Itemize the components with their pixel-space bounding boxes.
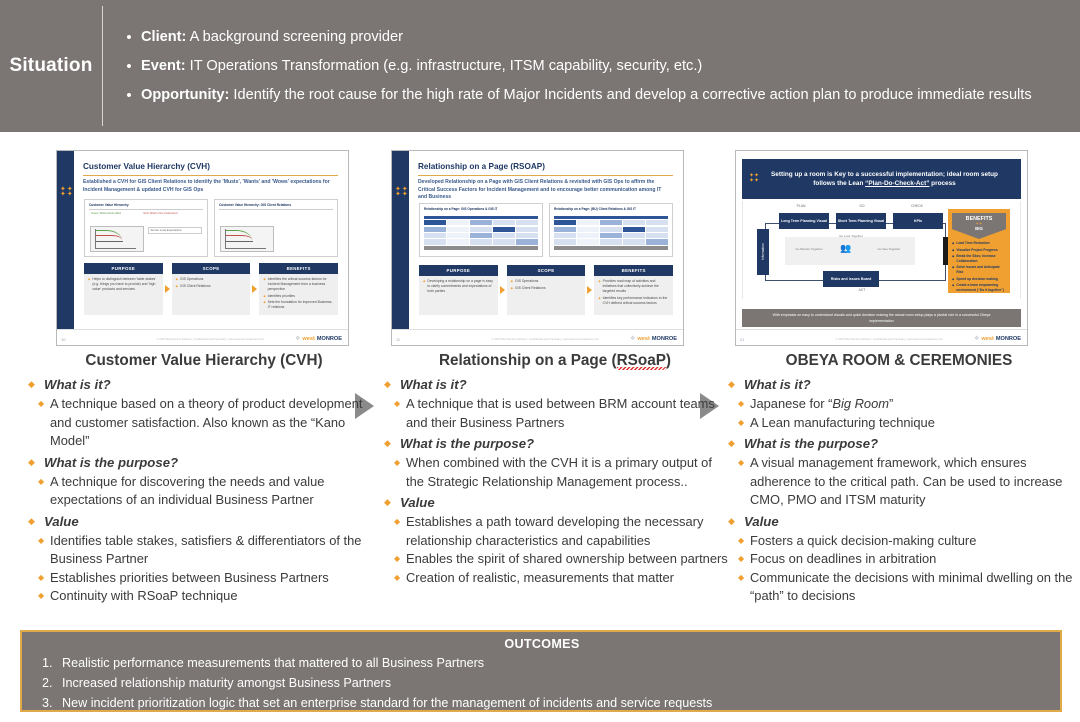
west-monroe-logo: ❖ west MONROE bbox=[630, 335, 677, 342]
mini-slide-title: Customer Value Hierarchy (CVH) bbox=[83, 162, 338, 171]
situation-bullet-list: • Client: A background screening provide… bbox=[103, 27, 1080, 106]
outcome-number: 1. bbox=[34, 654, 62, 673]
situation-item-lead: Opportunity: bbox=[141, 87, 229, 103]
mini-green-annotation: Green: What Clients Want bbox=[91, 212, 137, 215]
list-item-post: ” bbox=[889, 396, 893, 411]
mini-box-header: PURPOSE bbox=[84, 263, 163, 274]
obeya-footer-banner: With emphasis on easy to understand visu… bbox=[742, 309, 1021, 327]
list-item-text: Creation of realistic, measurements that… bbox=[406, 569, 674, 588]
mini-gray-annotation: Service Level Expectations bbox=[148, 227, 202, 234]
obeya-box-long-term: Long Term Planning Visual bbox=[779, 213, 829, 229]
mini-legal-text: © 2020 West Monroe Partners • Confidenti… bbox=[492, 338, 599, 342]
obeya-benefits-badge: BIG bbox=[952, 226, 1006, 231]
mini-box-purpose: PURPOSE ◆Helps to distinguish between 't… bbox=[84, 263, 163, 315]
mini-shot-caption: Relationship on a Page: (BU) Client Rela… bbox=[554, 207, 668, 211]
situation-label: Situation bbox=[0, 55, 102, 77]
situation-item-rest: Identify the root cause for the high rat… bbox=[229, 87, 1031, 103]
obeya-diagram: PLAN DO CHECK ACT Information Long Term … bbox=[742, 201, 1021, 299]
obeya-benefits-chevron: BENEFITS ✦✦ BIG bbox=[952, 213, 1006, 239]
outcome-number: 3. bbox=[34, 694, 62, 713]
list-item-pre: Japanese for “ bbox=[750, 396, 832, 411]
list-item: ◆ Establishes a path toward developing t… bbox=[380, 513, 730, 550]
mini-box-item: GIS Operations bbox=[180, 277, 203, 282]
column-obeya: OBEYA ROOM & CEREMONIES ◆ What is it? ◆ … bbox=[724, 352, 1074, 608]
diamond-bullet-icon: ◆ bbox=[24, 375, 44, 394]
list-item-text: A technique based on a theory of product… bbox=[50, 395, 384, 451]
mini-screenshot-left: Relationship on a Page: GIS Operations &… bbox=[419, 203, 543, 257]
diamond-bullet-icon: ◆ bbox=[24, 587, 50, 606]
obeya-benefit-item: Lead Time Reduction bbox=[956, 241, 989, 246]
slide-rail bbox=[392, 151, 409, 345]
group-points: ◆ A technique that is used between BRM a… bbox=[380, 395, 730, 432]
mini-title-rule bbox=[83, 175, 338, 176]
group-heading: What is it? bbox=[400, 375, 467, 394]
situation-item-event: • Event: IT Operations Transformation (e… bbox=[117, 56, 1052, 77]
obeya-box-short-term: Short Term Planning Visual bbox=[836, 213, 886, 229]
list-item-text: Japanese for “Big Room” bbox=[750, 395, 893, 414]
obeya-box-information: Information bbox=[757, 229, 769, 275]
logo-monroe-text: MONROE bbox=[652, 336, 677, 342]
mini-box-item: Helps to distinguish between 'table stak… bbox=[92, 277, 158, 292]
list-item-text: Enables the spirit of shared ownership b… bbox=[406, 550, 728, 569]
group-points: ◆ A technique based on a theory of produ… bbox=[24, 395, 384, 451]
mini-box-item: GIS Operations bbox=[515, 279, 538, 284]
mini-box-benefits: BENEFITS ◆Identifies the critical succes… bbox=[259, 263, 338, 315]
list-item: ◆ Enables the spirit of shared ownership… bbox=[380, 550, 730, 569]
column-title-pre: Relationship on a Page ( bbox=[439, 352, 617, 369]
mini-box-header: SCOPE bbox=[172, 263, 251, 274]
brand-dots-icon: ✦✦✦✦ bbox=[742, 174, 766, 184]
list-item-text: Establishes a path toward developing the… bbox=[406, 513, 730, 550]
diamond-bullet-icon: ◆ bbox=[24, 532, 50, 551]
mini-page-number: 10 bbox=[61, 337, 65, 342]
mini-screenshot-right: Customer Value Hierarchy: GIS Client Rel… bbox=[214, 199, 338, 257]
mini-green-header: Green: What Clients Want bbox=[91, 212, 121, 215]
list-item-text: Continuity with RSoaP technique bbox=[50, 587, 238, 606]
pdca-label-check: CHECK bbox=[895, 204, 939, 208]
group-points: ◆ Identifies table stakes, satisfiers & … bbox=[24, 532, 384, 606]
diamond-bullet-icon: ◆ bbox=[380, 513, 406, 532]
group-heading-row: ◆ What is it? bbox=[24, 375, 384, 394]
mini-screenshot-right: Relationship on a Page: (BU) Client Rela… bbox=[549, 203, 673, 257]
obeya-title-line1: Setting up a room is Key to a successful… bbox=[771, 171, 998, 178]
situation-item-rest: IT Operations Transformation (e.g. infra… bbox=[186, 58, 703, 74]
mini-box-item: Developing a relationship on a page is e… bbox=[427, 279, 493, 294]
diamond-bullet-icon: ◆ bbox=[724, 454, 750, 473]
obeya-center-top-label: Go Look Together bbox=[831, 234, 871, 238]
mini-shot-rule bbox=[89, 209, 203, 210]
obeya-benefit-item: Solve Issues and Anticipate Risk bbox=[956, 265, 1006, 274]
diamond-bullet-icon: ◆ bbox=[263, 294, 265, 299]
group-heading: What is it? bbox=[744, 375, 811, 394]
list-item-text: A technique that is used between BRM acc… bbox=[406, 395, 730, 432]
diamond-bullet-icon: ◆ bbox=[724, 395, 750, 414]
mini-box-item: Sets the foundation for improved Busines… bbox=[268, 300, 334, 310]
diamond-bullet-icon: ◆ bbox=[380, 550, 406, 569]
pdca-label-plan: PLAN bbox=[779, 204, 823, 208]
diamond-bullet-icon: ◆ bbox=[24, 569, 50, 588]
group-heading-row: ◆ Value bbox=[724, 512, 1074, 531]
obeya-box-risks-issues: Risks and Issues Board bbox=[823, 271, 879, 287]
mini-rsoap-table bbox=[554, 216, 668, 252]
mini-box-item: Identifies priorities bbox=[268, 294, 295, 299]
west-monroe-logo: ❖ west MONROE bbox=[974, 335, 1021, 342]
thumbnail-obeya[interactable]: ✦✦✦✦ Setting up a room is Key to a succe… bbox=[735, 150, 1028, 346]
outcome-item: 2. Increased relationship maturity among… bbox=[34, 674, 1050, 693]
situation-item-text: Opportunity: Identify the root cause for… bbox=[141, 85, 1032, 106]
outcome-text: Realistic performance measurements that … bbox=[62, 654, 484, 673]
situation-item-opportunity: • Opportunity: Identify the root cause f… bbox=[117, 85, 1052, 106]
chevron-separator-icon bbox=[585, 265, 594, 315]
logo-west-text: west bbox=[637, 336, 649, 342]
group-heading-row: ◆ What is the purpose? bbox=[724, 434, 1074, 453]
bullet-icon: • bbox=[117, 56, 141, 77]
diamond-bullet-icon: ◆ bbox=[952, 283, 954, 292]
mini-kano-chart bbox=[220, 226, 274, 252]
mini-slide-title: Relationship on a Page (RSOAP) bbox=[418, 162, 673, 171]
list-item: ◆ A visual management framework, which e… bbox=[724, 454, 1074, 510]
mini-slide-subtitle: Developed Relationship on a Page with GI… bbox=[418, 179, 671, 202]
mini-box-header: BENEFITS bbox=[259, 263, 338, 274]
list-item: ◆ When combined with the CVH it is a pri… bbox=[380, 454, 730, 491]
diamond-bullet-icon: ◆ bbox=[380, 569, 406, 588]
group-points: ◆ When combined with the CVH it is a pri… bbox=[380, 454, 730, 491]
obeya-title-line2-underlined: “Plan-Do-Check-Act” bbox=[865, 180, 929, 187]
group-heading: Value bbox=[744, 512, 779, 531]
list-item-text: Focus on deadlines in arbitration bbox=[750, 550, 936, 569]
diamond-bullet-icon: ◆ bbox=[511, 279, 513, 284]
list-item: ◆ A Lean manufacturing technique bbox=[724, 414, 1074, 433]
mini-box-body: ◆GIS Operations ◆GIS Client Relations bbox=[507, 276, 586, 315]
diamond-bullet-icon: ◆ bbox=[724, 434, 744, 453]
diamond-bullet-icon: ◆ bbox=[724, 414, 750, 433]
west-monroe-logo: ❖ west MONROE bbox=[295, 335, 342, 342]
diamond-bullet-icon: ◆ bbox=[263, 277, 265, 292]
diamond-bullet-icon: ◆ bbox=[88, 277, 90, 292]
column-title-obeya: OBEYA ROOM & CEREMONIES bbox=[724, 352, 1074, 370]
mini-box-item: Identifies the critical success factors … bbox=[268, 277, 334, 292]
group-points: ◆ Establishes a path toward developing t… bbox=[380, 513, 730, 587]
situation-item-client: • Client: A background screening provide… bbox=[117, 27, 1052, 48]
outcome-number: 2. bbox=[34, 674, 62, 693]
group-points: ◆ Japanese for “Big Room” ◆ A Lean manuf… bbox=[724, 395, 1074, 432]
list-item-text: A visual management framework, which ens… bbox=[750, 454, 1074, 510]
diamond-bullet-icon: ◆ bbox=[952, 241, 954, 246]
mini-screenshot-left: Customer Value Hierarchy Green: What Cli… bbox=[84, 199, 208, 257]
list-item-text: A Lean manufacturing technique bbox=[750, 414, 935, 433]
slide-rail bbox=[57, 151, 74, 345]
group-heading: Value bbox=[44, 512, 79, 531]
obeya-title-banner: ✦✦✦✦ Setting up a room is Key to a succe… bbox=[742, 159, 1021, 199]
mini-box-benefits: BENEFITS ◆Provides road map of activitie… bbox=[594, 265, 673, 315]
logo-mark-icon: ❖ bbox=[295, 335, 300, 342]
mini-page-number: 21 bbox=[740, 337, 744, 342]
outcome-text: Increased relationship maturity amongst … bbox=[62, 674, 391, 693]
bullet-icon: • bbox=[117, 27, 141, 48]
mini-shot-rule bbox=[219, 209, 333, 210]
list-item: ◆ A technique based on a theory of produ… bbox=[24, 395, 384, 451]
diamond-bullet-icon: ◆ bbox=[423, 279, 425, 294]
diamond-bullet-icon: ◆ bbox=[598, 279, 600, 294]
mini-box-item: Identifies key performance indicators to… bbox=[603, 296, 669, 306]
diamond-bullet-icon: ◆ bbox=[263, 300, 265, 310]
mini-box-body: ◆Helps to distinguish between 'table sta… bbox=[84, 274, 163, 315]
mini-page-number: 11 bbox=[396, 337, 400, 342]
diamond-bullet-icon: ◆ bbox=[24, 395, 50, 414]
obeya-benefit-item: Create a team empowering environment (“D… bbox=[956, 283, 1006, 292]
mini-red-header: Red: What Is Not Understood bbox=[144, 212, 178, 215]
list-item: ◆ A technique that is used between BRM a… bbox=[380, 395, 730, 432]
column-cvh: Customer Value Hierarchy (CVH) ◆ What is… bbox=[24, 352, 384, 608]
obeya-center-right-label: Go See Together bbox=[871, 247, 907, 251]
mini-rsoap-table bbox=[424, 216, 538, 252]
column-title-misspelled-word: RSoaP bbox=[617, 352, 666, 369]
list-item: ◆ A technique for discovering the needs … bbox=[24, 473, 384, 510]
logo-west-text: west bbox=[981, 336, 993, 342]
group-heading-row: ◆ What is the purpose? bbox=[380, 434, 730, 453]
diamond-bullet-icon: ◆ bbox=[24, 473, 50, 492]
list-item-text: Establishes priorities between Business … bbox=[50, 569, 329, 588]
diamond-bullet-icon: ◆ bbox=[952, 277, 954, 282]
diamond-bullet-icon: ◆ bbox=[511, 286, 513, 291]
diamond-bullet-icon: ◆ bbox=[380, 375, 400, 394]
mini-legal-text: © 2020 West Monroe Partners • Confidenti… bbox=[157, 338, 264, 342]
chevron-separator-icon bbox=[163, 263, 172, 315]
column-title-post: ) bbox=[666, 352, 671, 369]
diamond-bullet-icon: ◆ bbox=[724, 375, 744, 394]
situation-band: Situation • Client: A background screeni… bbox=[0, 0, 1080, 132]
outcomes-panel: OUTCOMES 1. Realistic performance measur… bbox=[20, 630, 1062, 712]
mini-box-header: PURPOSE bbox=[419, 265, 498, 276]
pdca-label-act: ACT bbox=[840, 288, 884, 292]
list-item: ◆ Continuity with RSoaP technique bbox=[24, 587, 384, 606]
obeya-benefit-item: Speed up decision making bbox=[956, 277, 998, 282]
group-points: ◆ A visual management framework, which e… bbox=[724, 454, 1074, 510]
logo-mark-icon: ❖ bbox=[974, 335, 979, 342]
group-points: ◆ Fosters a quick decision-making cultur… bbox=[724, 532, 1074, 606]
mini-slide-subtitle: Established a CVH for GIS Client Relatio… bbox=[83, 179, 336, 194]
situation-item-lead: Client: bbox=[141, 29, 186, 45]
list-item-text: Fosters a quick decision-making culture bbox=[750, 532, 976, 551]
diamond-bullet-icon: ◆ bbox=[952, 265, 954, 274]
diamond-bullet-icon: ◆ bbox=[380, 493, 400, 512]
group-heading: Value bbox=[400, 493, 435, 512]
detail-columns: Customer Value Hierarchy (CVH) ◆ What is… bbox=[0, 352, 1080, 624]
diamond-bullet-icon: ◆ bbox=[724, 550, 750, 569]
group-heading-row: ◆ What is it? bbox=[724, 375, 1074, 394]
list-item: ◆ Establishes priorities between Busines… bbox=[24, 569, 384, 588]
diamond-bullet-icon: ◆ bbox=[724, 569, 750, 588]
list-item-text: A technique for discovering the needs an… bbox=[50, 473, 384, 510]
mini-box-header: SCOPE bbox=[507, 265, 586, 276]
obeya-benefits-panel: BENEFITS ✦✦ BIG ◆Lead Time Reduction ◆Vi… bbox=[948, 209, 1010, 293]
thumbnail-rsoap[interactable]: ✦✦✦✦ Relationship on a Page (RSOAP) Deve… bbox=[391, 150, 684, 346]
people-group-icon: 👥 bbox=[840, 243, 851, 254]
mini-shot-caption: Customer Value Hierarchy: GIS Client Rel… bbox=[219, 203, 333, 207]
list-item-text: Communicate the decisions with minimal d… bbox=[750, 569, 1074, 606]
list-item: ◆ Creation of realistic, measurements th… bbox=[380, 569, 730, 588]
obeya-title-line2-post: process bbox=[929, 180, 955, 187]
mini-box-scope: SCOPE ◆GIS Operations ◆GIS Client Relati… bbox=[507, 265, 586, 315]
mini-shot-caption: Relationship on a Page: GIS Operations &… bbox=[424, 207, 538, 211]
diamond-bullet-icon: ◆ bbox=[724, 532, 750, 551]
group-heading: What is it? bbox=[44, 375, 111, 394]
thumbnail-cvh[interactable]: ✦✦✦✦ Customer Value Hierarchy (CVH) Esta… bbox=[56, 150, 349, 346]
diamond-bullet-icon: ◆ bbox=[380, 395, 406, 414]
group-heading: What is the purpose? bbox=[44, 453, 178, 472]
mini-title-rule bbox=[418, 175, 673, 176]
diamond-bullet-icon: ◆ bbox=[176, 284, 178, 289]
mini-box-body: ◆Provides road map of activities and ini… bbox=[594, 276, 673, 315]
mini-box-item: GIS Client Relations bbox=[180, 284, 211, 289]
group-heading: What is the purpose? bbox=[744, 434, 878, 453]
diamond-bullet-icon: ◆ bbox=[24, 453, 44, 472]
mini-box-scope: SCOPE ◆GIS Operations ◆GIS Client Relati… bbox=[172, 263, 251, 315]
logo-monroe-text: MONROE bbox=[996, 336, 1021, 342]
logo-mark-icon: ❖ bbox=[630, 335, 635, 342]
list-item: ◆ Focus on deadlines in arbitration bbox=[724, 550, 1074, 569]
mini-box-item: Provides road map of activities and init… bbox=[603, 279, 669, 294]
mini-red-annotation: Red: What Is Not Understood bbox=[144, 212, 203, 215]
column-title-cvh: Customer Value Hierarchy (CVH) bbox=[24, 352, 384, 370]
mini-shot-caption: Customer Value Hierarchy bbox=[89, 203, 203, 207]
list-item: ◆ Fosters a quick decision-making cultur… bbox=[724, 532, 1074, 551]
diamond-bullet-icon: ◆ bbox=[176, 277, 178, 282]
slide-canvas: Situation • Client: A background screeni… bbox=[0, 0, 1080, 722]
situation-item-rest: A background screening provider bbox=[186, 29, 403, 45]
outcome-item: 3. New incident prioritization logic tha… bbox=[34, 694, 1050, 713]
brand-dots-icon: ✦✦✦✦ bbox=[60, 187, 72, 201]
chevron-separator-icon bbox=[498, 265, 507, 315]
column-list: ◆ What is it? ◆ Japanese for “Big Room” … bbox=[724, 375, 1074, 606]
bullet-icon: • bbox=[117, 85, 141, 106]
diamond-bullet-icon: ◆ bbox=[952, 248, 954, 253]
obeya-title-text: Setting up a room is Key to a successful… bbox=[766, 170, 1021, 188]
mini-screenshot-pair: Relationship on a Page: GIS Operations &… bbox=[419, 203, 673, 257]
list-item-text: When combined with the CVH it is a prima… bbox=[406, 454, 730, 491]
logo-west-text: west bbox=[302, 336, 314, 342]
mini-box-body: ◆Developing a relationship on a page is … bbox=[419, 276, 498, 315]
mini-psb-row: PURPOSE ◆Helps to distinguish between 't… bbox=[84, 263, 338, 315]
diamond-bullet-icon: ◆ bbox=[24, 512, 44, 531]
group-heading-row: ◆ What is the purpose? bbox=[24, 453, 384, 472]
obeya-box-kpis: KPIs bbox=[893, 213, 943, 229]
chevron-separator-icon bbox=[250, 263, 259, 315]
mini-box-body: ◆Identifies the critical success factors… bbox=[259, 274, 338, 315]
column-rsoap: Relationship on a Page (RSoaP) ◆ What is… bbox=[380, 352, 730, 589]
diamond-bullet-icon: ◆ bbox=[380, 434, 400, 453]
mini-box-body: ◆GIS Operations ◆GIS Client Relations bbox=[172, 274, 251, 315]
mini-box-header: BENEFITS bbox=[594, 265, 673, 276]
outcome-text: New incident prioritization logic that s… bbox=[62, 694, 712, 713]
thumbnail-row: ✦✦✦✦ Customer Value Hierarchy (CVH) Esta… bbox=[0, 150, 1080, 350]
mini-psb-row: PURPOSE ◆Developing a relationship on a … bbox=[419, 265, 673, 315]
diamond-bullet-icon: ◆ bbox=[952, 254, 954, 263]
obeya-benefit-item: Visualize Project Progress bbox=[956, 248, 997, 253]
situation-item-lead: Event: bbox=[141, 58, 186, 74]
logo-monroe-text: MONROE bbox=[317, 336, 342, 342]
list-item: ◆ Japanese for “Big Room” bbox=[724, 395, 1074, 414]
diamond-bullet-icon: ◆ bbox=[380, 454, 406, 473]
mini-kano-chart bbox=[90, 226, 144, 252]
list-item-emphasis: Big Room bbox=[832, 396, 889, 411]
group-heading: What is the purpose? bbox=[400, 434, 534, 453]
diamond-bullet-icon: ◆ bbox=[598, 296, 600, 306]
mini-legal-text: © 2020 West Monroe Partners • Confidenti… bbox=[836, 338, 943, 342]
outcomes-title: OUTCOMES bbox=[34, 637, 1050, 651]
column-list: ◆ What is it? ◆ A technique that is used… bbox=[380, 375, 730, 587]
mini-gray-header: Service Level Expectations bbox=[150, 229, 181, 232]
list-item-text: Identifies table stakes, satisfiers & di… bbox=[50, 532, 384, 569]
situation-item-text: Client: A background screening provider bbox=[141, 27, 403, 48]
mini-box-item: GIS Client Relations bbox=[515, 286, 546, 291]
group-points: ◆ A technique for discovering the needs … bbox=[24, 473, 384, 510]
diamond-bullet-icon: ◆ bbox=[724, 512, 744, 531]
mini-screenshot-pair: Customer Value Hierarchy Green: What Cli… bbox=[84, 199, 338, 257]
group-heading-row: ◆ What is it? bbox=[380, 375, 730, 394]
column-title-rsoap: Relationship on a Page (RSoaP) bbox=[380, 352, 730, 370]
obeya-title-line2-pre: follows the Lean bbox=[813, 180, 865, 187]
mini-box-purpose: PURPOSE ◆Developing a relationship on a … bbox=[419, 265, 498, 315]
list-item: ◆ Identifies table stakes, satisfiers & … bbox=[24, 532, 384, 569]
situation-item-text: Event: IT Operations Transformation (e.g… bbox=[141, 56, 702, 77]
obeya-benefit-item: Break the Silos; Increase Collaboration bbox=[956, 254, 1006, 263]
pdca-label-do: DO bbox=[840, 204, 884, 208]
brand-dots-icon: ✦✦✦✦ bbox=[395, 187, 407, 201]
obeya-center-left-label: Co-Monitor Together bbox=[791, 247, 827, 251]
list-item: ◆ Communicate the decisions with minimal… bbox=[724, 569, 1074, 606]
outcome-item: 1. Realistic performance measurements th… bbox=[34, 654, 1050, 673]
group-heading-row: ◆ Value bbox=[24, 512, 384, 531]
group-heading-row: ◆ Value bbox=[380, 493, 730, 512]
column-list: ◆ What is it? ◆ A technique based on a t… bbox=[24, 375, 384, 606]
